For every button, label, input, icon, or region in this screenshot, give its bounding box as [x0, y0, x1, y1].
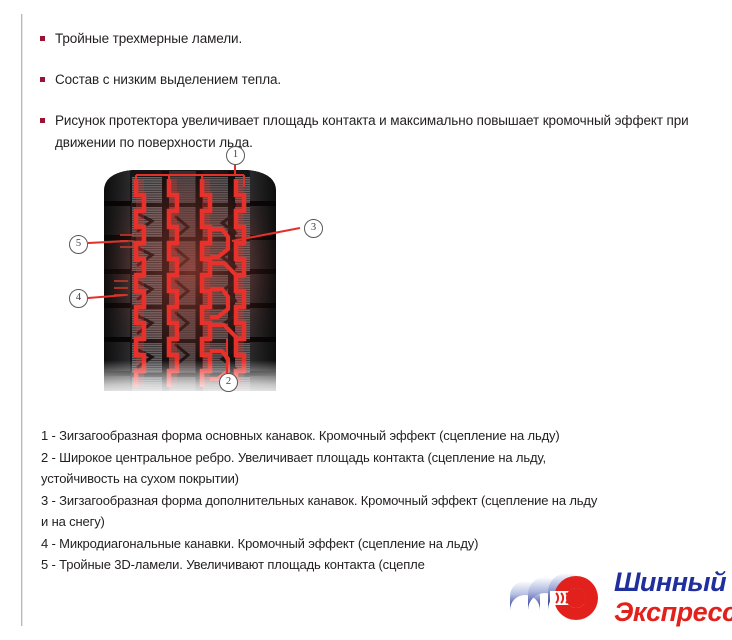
logo-word-express: Экспресс	[614, 597, 732, 627]
left-margin-rule	[21, 14, 23, 626]
legend-line-2: 2 - Широкое центральное ребро. Увеличива…	[41, 447, 713, 469]
callout-marker-5: 5	[69, 235, 88, 254]
tire-tread-illustration	[36, 143, 376, 398]
bottom-fade	[91, 263, 291, 398]
bullet-text: Состав с низким выделением тепла.	[55, 72, 281, 87]
legend-line-4: 4 - Микродиагональные канавки. Кромочный…	[41, 533, 713, 555]
feature-bullet-list: Тройные трехмерные ламели. Состав с низк…	[40, 28, 716, 154]
brand-logo: Шинный Экспресс	[506, 566, 728, 632]
list-item: Состав с низким выделением тепла.	[40, 69, 716, 91]
logo-word-shinny: Шинный	[614, 567, 732, 597]
legend-line-3-cont: и на снегу)	[41, 511, 713, 533]
legend-line-3: 3 - Зигзагообразная форма дополнительных…	[41, 490, 713, 512]
callout-marker-2: 2	[219, 373, 238, 392]
callout-marker-1: 1	[226, 146, 245, 165]
logo-wordmark: Шинный Экспресс	[614, 567, 732, 627]
bullet-text: Тройные трехмерные ламели.	[55, 31, 242, 46]
legend-block: 1 - Зигзагообразная форма основных канав…	[41, 425, 713, 576]
bullet-square-icon	[40, 36, 45, 41]
page-root: Тройные трехмерные ламели. Состав с низк…	[0, 0, 732, 640]
tire-tread-diagram: 1 2 3 4 5	[36, 143, 376, 398]
legend-line-2-cont: устойчивость на сухом покрытии)	[41, 468, 713, 490]
callout-marker-4: 4	[69, 289, 88, 308]
callout-marker-3: 3	[304, 219, 323, 238]
bullet-square-icon	[40, 118, 45, 123]
bullet-square-icon	[40, 77, 45, 82]
legend-line-1: 1 - Зигзагообразная форма основных канав…	[41, 425, 713, 447]
logo-mark-icon	[506, 566, 618, 628]
list-item: Тройные трехмерные ламели.	[40, 28, 716, 50]
